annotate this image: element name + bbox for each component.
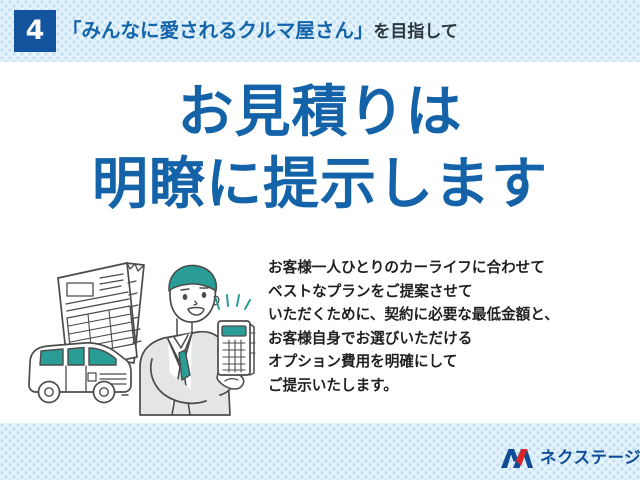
sparkle-lines	[216, 295, 250, 309]
header: 4 「みんなに愛されるクルマ屋さん」を目指して	[0, 0, 640, 62]
brand-logo: ネクステージ	[500, 446, 630, 472]
section-number-badge: 4	[14, 10, 56, 52]
body-paragraph: お客様一人ひとりのカーライフに合わせて ベストなプランをご提案させて いただくた…	[268, 256, 628, 397]
headline-line-1: お見積りは	[0, 80, 640, 146]
calculator	[218, 321, 255, 375]
illustration-salesman-quote-van	[22, 247, 270, 419]
body-line: オプション費用を明確にして	[268, 350, 628, 374]
body-line: ご提示いたします。	[268, 374, 628, 398]
body-line: ベストなプランをご提案させて	[268, 280, 628, 304]
van	[29, 343, 131, 403]
header-title-quoted: 「みんなに愛されるクルマ屋さん」	[62, 19, 373, 42]
header-title: 「みんなに愛されるクルマ屋さん」を目指して	[62, 15, 458, 47]
content-card: お見積りは 明瞭に提示します お客様一人ひとりのカーライフに合わせて ベストなプ…	[0, 62, 640, 423]
nextage-n-logo-icon	[500, 448, 534, 469]
brand-name: ネクステージ	[540, 447, 640, 469]
body-line: お客様自身でお選びいただける	[268, 327, 628, 351]
headline-line-2: 明瞭に提示します	[0, 152, 640, 218]
header-title-tail: を目指して	[373, 22, 458, 42]
body-line: いただくために、契約に必要な最低金額と、	[268, 303, 628, 327]
page-title: お見積りは 明瞭に提示します	[0, 80, 640, 218]
body-line: お客様一人ひとりのカーライフに合わせて	[268, 256, 628, 280]
slide-canvas: 4 「みんなに愛されるクルマ屋さん」を目指して お見積りは 明瞭に提示します お…	[0, 0, 640, 480]
